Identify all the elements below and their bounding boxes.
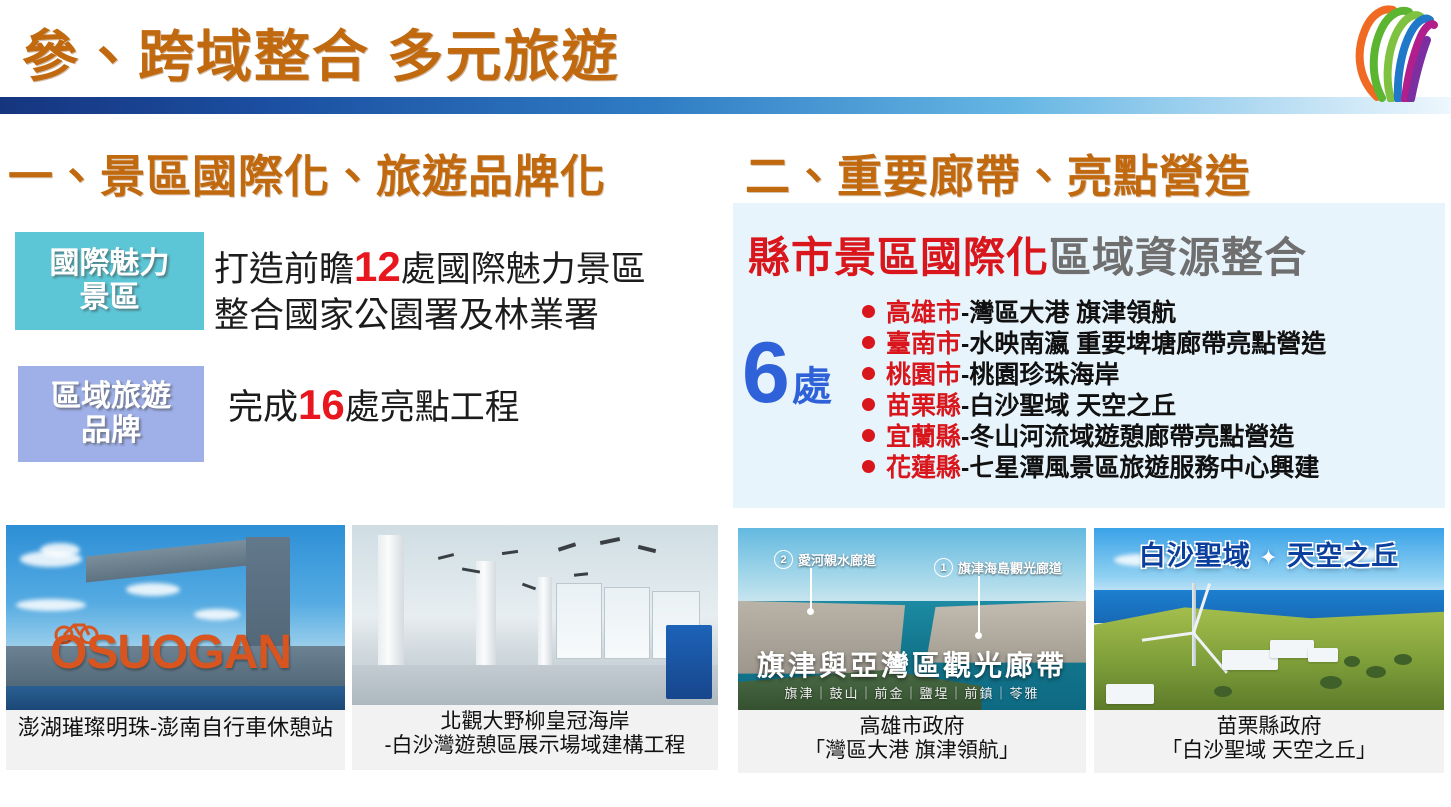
left-item-1-text: 打造前瞻12處國際魅力景區 整合國家公園署及林業署: [214, 240, 646, 339]
bullet-dot-icon: [862, 429, 875, 442]
left-section-heading: 一、景區國際化、旅遊品牌化: [8, 140, 606, 205]
panel-title-gray: 區域資源整合: [1049, 234, 1307, 281]
tag-label: 旗津海島觀光廊道: [958, 558, 1062, 577]
bullet-city: 花蓮縣: [886, 448, 961, 484]
panel-title: 縣市景區國際化區域資源整合: [748, 224, 1307, 285]
tree-cluster: [1320, 676, 1342, 689]
page-title: 參、跨域整合 多元旅遊: [22, 12, 620, 93]
building: [1308, 648, 1338, 662]
text-suffix: 處國際魅力景區: [401, 250, 646, 289]
photo-card-penghu: OSUOGAN 澎湖璀璨明珠-澎南自行車休憩站: [6, 525, 345, 770]
list-item: 臺南市 -水映南瀛 重要埤塘廊帶亮點營造: [862, 324, 1326, 354]
count-number: 6: [742, 338, 790, 409]
sparkle-icon: ✦: [1259, 545, 1278, 570]
count-group: 6 處: [742, 338, 832, 409]
tag-number: 2: [774, 550, 793, 569]
header-gradient-bar: [0, 97, 1451, 114]
badge-line-1: 國際魅力: [50, 247, 170, 281]
tag-label: 愛河親水廊道: [798, 550, 876, 569]
photo-overlay-title: 旗津與亞灣區觀光廊帶: [738, 644, 1086, 684]
right-section-heading: 二、重要廊帶、亮點營造: [745, 140, 1251, 205]
badge-line-2: 景區: [80, 281, 140, 315]
count-unit: 處: [792, 367, 832, 409]
cloud-shape: [126, 583, 180, 596]
tag-pin: [807, 608, 814, 615]
text-prefix: 打造前瞻: [214, 250, 354, 289]
overlay-title-part-a: 白沙聖域: [1139, 541, 1251, 571]
photo-card-kaohsiung: 2 愛河親水廊道 1 旗津海島觀光廊道 旗津與亞灣區觀光廊帶 旗津｜鼓山｜前金｜…: [738, 528, 1086, 773]
badge-line-2: 品牌: [81, 414, 141, 448]
column: [378, 535, 404, 685]
overlay-title-part-b: 天空之丘: [1287, 541, 1399, 571]
map-tag-2: 2 愛河親水廊道: [774, 550, 876, 569]
highlight-number: 12: [354, 243, 401, 290]
photo-card-miaoli: 白沙聖域 ✦ 天空之丘 苗栗縣政府 「白沙聖域 天空之丘」: [1094, 528, 1444, 773]
caption-line-1: 北觀大野柳皇冠海岸: [354, 710, 716, 734]
list-item: 花蓮縣 -七星潭風景區旅遊服務中心興建: [862, 448, 1326, 478]
tag-leader-line: [978, 576, 980, 634]
bullet-dot-icon: [862, 305, 875, 318]
project-bullet-list: 高雄市 -灣區大港 旗津領航 臺南市 -水映南瀛 重要埤塘廊帶亮點營造 桃園市 …: [862, 293, 1326, 479]
list-item: 宜蘭縣 -冬山河流域遊憩廊帶亮點營造: [862, 417, 1326, 447]
left-item-2-line-1: 完成16處亮點工程: [228, 378, 520, 432]
caption-line-2: 「灣區大港 旗津領航」: [740, 739, 1084, 763]
left-item-2-text: 完成16處亮點工程: [228, 378, 520, 432]
caption-line-2: -白沙灣遊憩區展示場域建構工程: [354, 734, 716, 758]
photo-overlay-title: 白沙聖域 ✦ 天空之丘: [1094, 534, 1444, 573]
photo-visitor-center-interior: [352, 525, 718, 705]
info-kiosk-screen: [666, 625, 712, 699]
caption-line-1: 苗栗縣政府: [1096, 715, 1442, 739]
photo-caption: 北觀大野柳皇冠海岸 -白沙灣遊憩區展示場域建構工程: [352, 705, 718, 764]
window: [604, 587, 650, 659]
map-tag-1: 1 旗津海島觀光廊道: [934, 558, 1062, 577]
photo-baisha-render: 白沙聖域 ✦ 天空之丘: [1094, 528, 1444, 710]
photo-caption: 苗栗縣政府 「白沙聖域 天空之丘」: [1094, 710, 1444, 769]
photo-caption: 澎湖璀璨明珠-澎南自行車休憩站: [6, 710, 345, 746]
building: [1106, 684, 1154, 704]
badge-regional-brand: 區域旅遊 品牌: [18, 366, 204, 462]
bullet-dot-icon: [862, 367, 875, 380]
water-pool: [6, 686, 345, 710]
tag-leader-line: [810, 568, 812, 610]
list-item: 高雄市 -灣區大港 旗津領航: [862, 293, 1326, 323]
floor: [352, 665, 718, 705]
caption-line-1: 澎湖璀璨明珠-澎南自行車休憩站: [8, 715, 343, 740]
text-prefix: 完成: [228, 388, 298, 427]
badge-international-scenic: 國際魅力 景區: [15, 232, 204, 330]
bullet-dot-icon: [862, 336, 875, 349]
sign-text: OSUOGAN: [50, 625, 291, 680]
bullet-dot-icon: [862, 398, 875, 411]
tree-cluster: [1366, 666, 1386, 678]
list-item: 苗栗縣 -白沙聖域 天空之丘: [862, 386, 1326, 416]
slide-root: 參、跨域整合 多元旅遊 一、景區國際化、旅遊品牌化 國際魅力 景區 打造前瞻12…: [0, 0, 1451, 807]
caption-line-1: 高雄市政府: [740, 715, 1084, 739]
tree-cluster: [1214, 686, 1232, 697]
photo-overlay-subtitle: 旗津｜鼓山｜前金｜鹽埕｜前鎮｜苓雅: [738, 683, 1086, 702]
window: [556, 583, 602, 659]
photo-kaohsiung-harbour: 2 愛河親水廊道 1 旗津海島觀光廊道 旗津與亞灣區觀光廊帶 旗津｜鼓山｜前金｜…: [738, 528, 1086, 710]
tag-pin: [975, 632, 982, 639]
bullet-dot-icon: [862, 460, 875, 473]
text-suffix: 處亮點工程: [345, 388, 520, 427]
left-item-1-line-1: 打造前瞻12處國際魅力景區: [214, 240, 646, 294]
tree-cluster: [1394, 654, 1412, 665]
photo-card-yehliu: 北觀大野柳皇冠海岸 -白沙灣遊憩區展示場域建構工程: [352, 525, 718, 770]
left-item-1-line-2: 整合國家公園署及林業署: [214, 294, 646, 339]
tree-cluster: [1344, 656, 1360, 667]
caption-line-2: 「白沙聖域 天空之丘」: [1096, 739, 1442, 763]
photo-caption: 高雄市政府 「灣區大港 旗津領航」: [738, 710, 1086, 769]
cloud-shape: [40, 543, 80, 557]
badge-line-1: 區域旅遊: [51, 380, 171, 414]
photo-penghu-bike-station: OSUOGAN: [6, 525, 345, 710]
cloud-shape: [194, 609, 240, 620]
taiwan-ribbon-logo: [1335, 2, 1439, 102]
highlight-number: 16: [298, 381, 345, 428]
cloud-shape: [16, 599, 86, 611]
bullet-desc: -七星潭風景區旅遊服務中心興建: [961, 448, 1319, 484]
tag-number: 1: [934, 558, 953, 577]
panel-title-red: 縣市景區國際化: [748, 234, 1049, 281]
